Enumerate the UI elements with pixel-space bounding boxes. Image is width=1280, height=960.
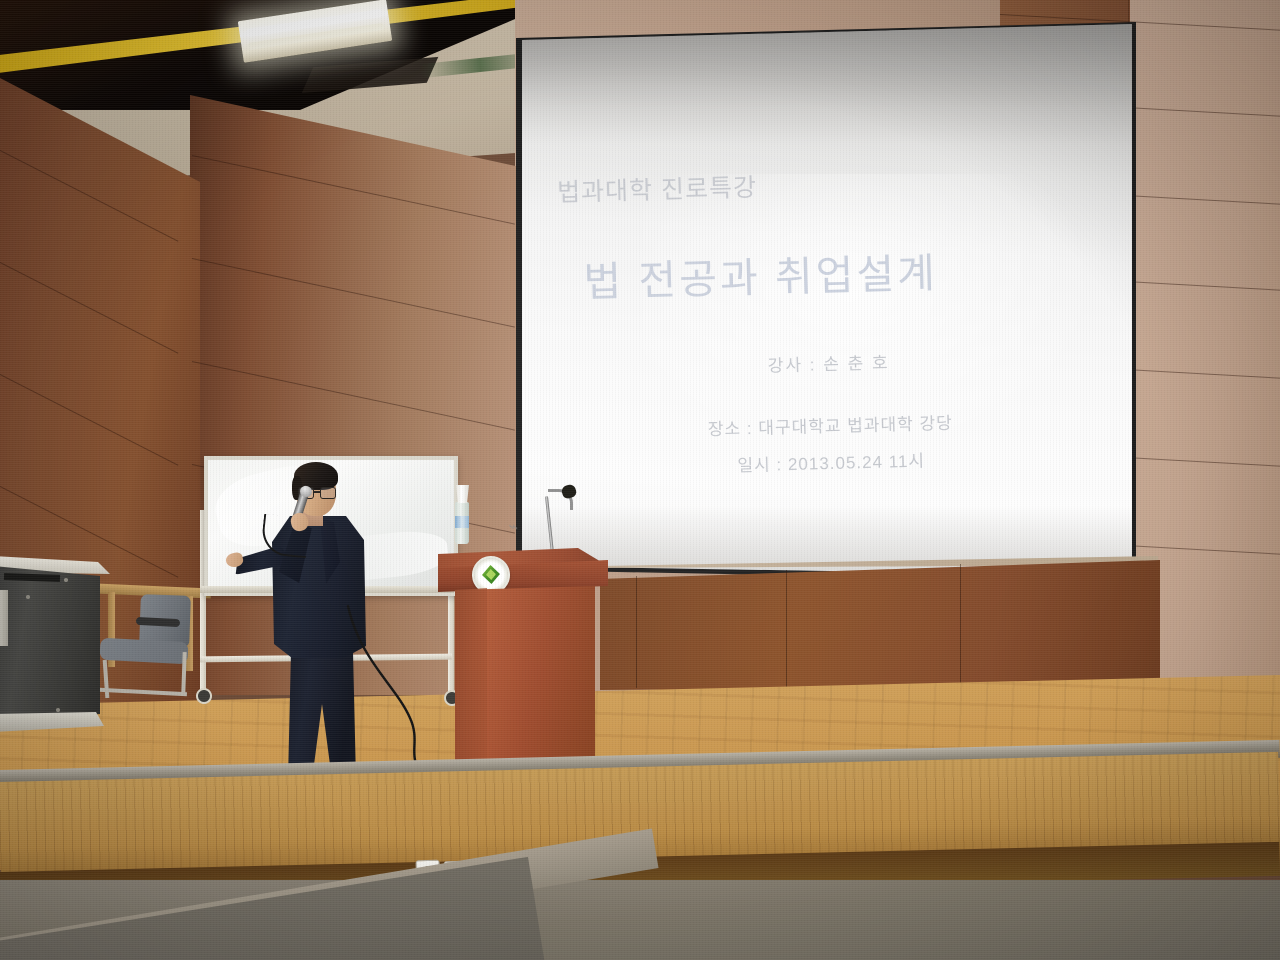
screen-smudge-mark: ⌁ bbox=[507, 517, 532, 542]
whiteboard-caster-icon bbox=[196, 688, 212, 704]
wainscot-seam bbox=[636, 576, 637, 688]
chair-seat[interactable] bbox=[99, 638, 188, 665]
av-cabinet-screw-icon bbox=[26, 595, 30, 599]
slide-speaker-line: 강사 : 손 춘 호 bbox=[523, 342, 1132, 383]
auditorium-photo: 법과대학 진로특강 법 전공과 취업설계 강사 : 손 춘 호 장소 : 대구대… bbox=[0, 0, 1280, 960]
slide-date-line: 일시 : 2013.05.24 11시 bbox=[526, 441, 1132, 482]
wainscot-seam bbox=[960, 564, 961, 688]
slide-place-line: 장소 : 대구대학교 법과대학 강당 bbox=[525, 404, 1132, 445]
eyeglasses-lens-right bbox=[320, 487, 336, 499]
slide-content: 법과대학 진로특강 법 전공과 취업설계 강사 : 손 춘 호 장소 : 대구대… bbox=[522, 24, 1132, 576]
av-cabinet-body[interactable] bbox=[0, 566, 100, 724]
wainscot-panel bbox=[600, 560, 1160, 690]
slide-subtitle: 법과대학 진로특강 bbox=[557, 163, 958, 209]
projection-screen: 법과대학 진로특강 법 전공과 취업설계 강사 : 손 춘 호 장소 : 대구대… bbox=[522, 24, 1132, 576]
av-cabinet-screw-icon bbox=[64, 578, 68, 582]
slide-main-title: 법 전공과 취업설계 bbox=[583, 235, 1104, 309]
av-cabinet-side-panel bbox=[0, 590, 8, 646]
wainscot-seam bbox=[786, 570, 787, 688]
water-bottle-icon[interactable] bbox=[455, 502, 469, 544]
water-bottle-label bbox=[455, 516, 469, 528]
av-cabinet-screw-icon bbox=[56, 708, 60, 712]
